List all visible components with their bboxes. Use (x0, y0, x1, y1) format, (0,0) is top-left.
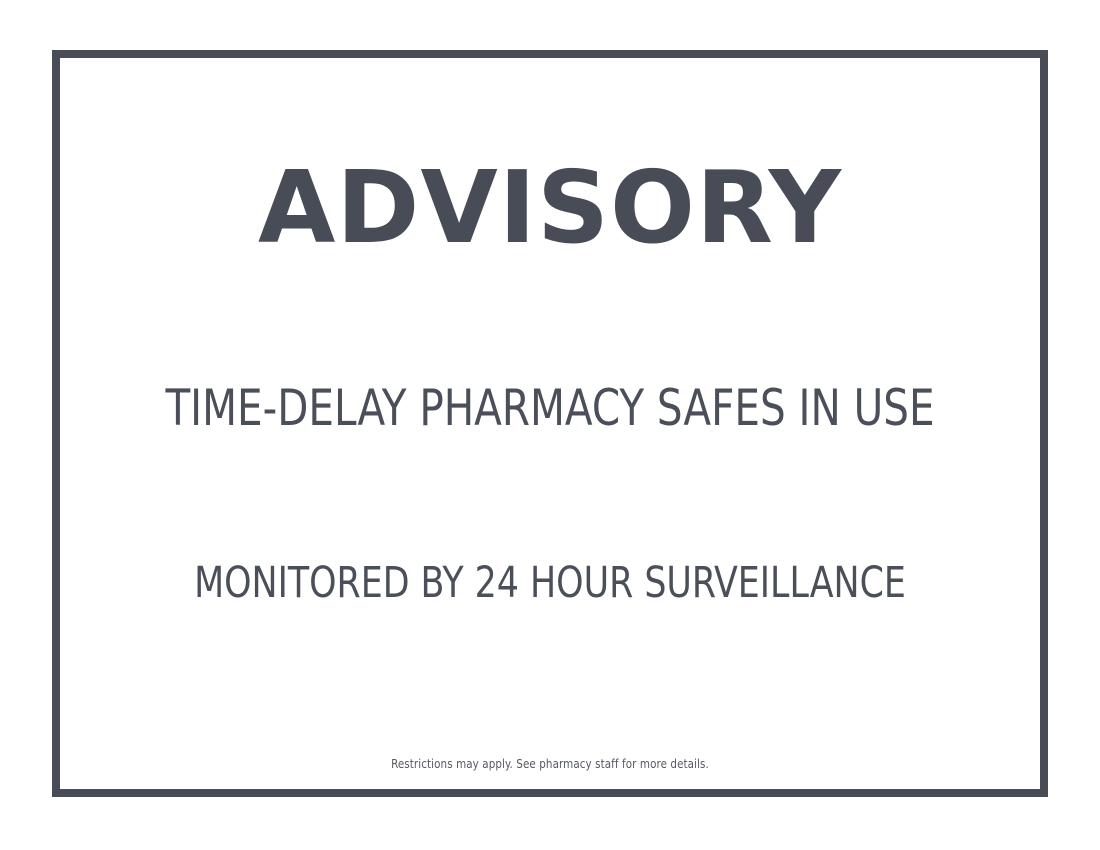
advisory-sign-page: ADVISORY TIME-DELAY PHARMACY SAFES IN US… (0, 0, 1100, 850)
sign-footnote-disclaimer: Restrictions may apply. See pharmacy sta… (99, 758, 1001, 771)
sign-subtitle-primary: TIME-DELAY PHARMACY SAFES IN USE (109, 383, 991, 433)
sign-subtitle-secondary: MONITORED BY 24 HOUR SURVEILLANCE (109, 562, 991, 605)
sign-content-area: ADVISORY TIME-DELAY PHARMACY SAFES IN US… (60, 58, 1040, 789)
sign-border-frame: ADVISORY TIME-DELAY PHARMACY SAFES IN US… (52, 50, 1048, 797)
sign-title: ADVISORY (60, 158, 1040, 258)
